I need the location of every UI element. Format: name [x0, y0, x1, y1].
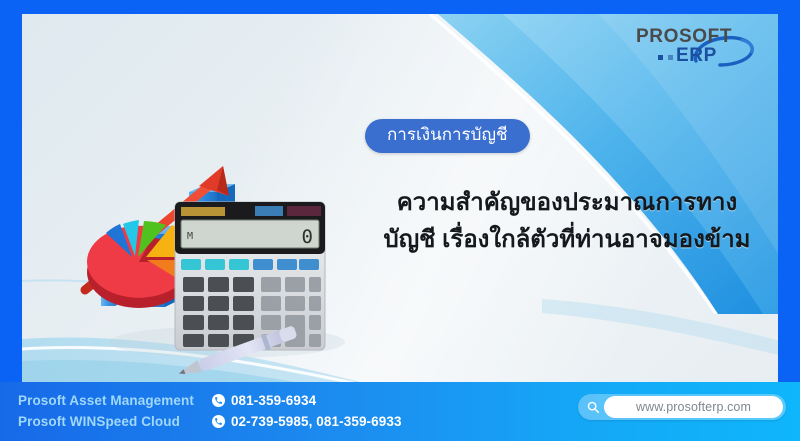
website-url-text: www.prosofterp.com: [636, 400, 751, 414]
calculator-memory-indicator: M: [187, 231, 193, 242]
promo-banner: PROSOFT ERP การเงินการบัญชี ความสำคัญของ…: [0, 0, 800, 441]
calculator-display-value: 0: [302, 226, 313, 248]
footer-product-name-1: Prosoft WINSpeed Cloud: [18, 411, 194, 432]
search-icon[interactable]: [582, 396, 604, 418]
phone-glyph: [214, 396, 223, 405]
footer-phone-row-0[interactable]: 081-359-6934: [212, 390, 402, 411]
headline-line-1: ความสำคัญของประมาณการทาง: [397, 189, 738, 216]
banner-stage: PROSOFT ERP การเงินการบัญชี ความสำคัญของ…: [22, 14, 778, 441]
phone-glyph: [214, 417, 223, 426]
magnifier-glyph: [586, 400, 600, 414]
phone-icon: [212, 415, 225, 428]
prosoft-erp-logo[interactable]: PROSOFT ERP: [636, 24, 756, 72]
illustration-svg: M 0: [77, 94, 367, 374]
headline-line-2: บัญชี เรื่องใกล้ตัวที่ท่านอาจมองข้าม: [342, 221, 778, 258]
logo-square-1: [658, 55, 663, 60]
website-search-chip[interactable]: www.prosofterp.com: [578, 394, 786, 420]
website-url-field[interactable]: www.prosofterp.com: [604, 396, 783, 418]
category-badge[interactable]: การเงินการบัญชี: [365, 119, 530, 153]
footer-phone-0: 081-359-6934: [231, 393, 316, 408]
footer-product-name-0: Prosoft Asset Management: [18, 390, 194, 411]
calculator: M 0: [175, 202, 325, 350]
phone-icon: [212, 394, 225, 407]
footer-phone-1: 02-739-5985, 081-359-6933: [231, 414, 402, 429]
headline: ความสำคัญของประมาณการทาง บัญชี เรื่องใกล…: [342, 184, 778, 258]
logo-square-2: [668, 55, 673, 60]
footer-phone-numbers: 081-359-6934 02-739-5985, 081-359-6933: [212, 390, 402, 432]
footer-phone-row-1[interactable]: 02-739-5985, 081-359-6933: [212, 411, 402, 432]
logo-text-erp: ERP: [676, 45, 717, 67]
accounting-illustration: M 0: [77, 94, 367, 374]
footer-contact-block: Prosoft Asset Management Prosoft WINSpee…: [18, 390, 402, 432]
footer-product-names: Prosoft Asset Management Prosoft WINSpee…: [18, 390, 194, 432]
footer-bar: Prosoft Asset Management Prosoft WINSpee…: [0, 382, 800, 441]
